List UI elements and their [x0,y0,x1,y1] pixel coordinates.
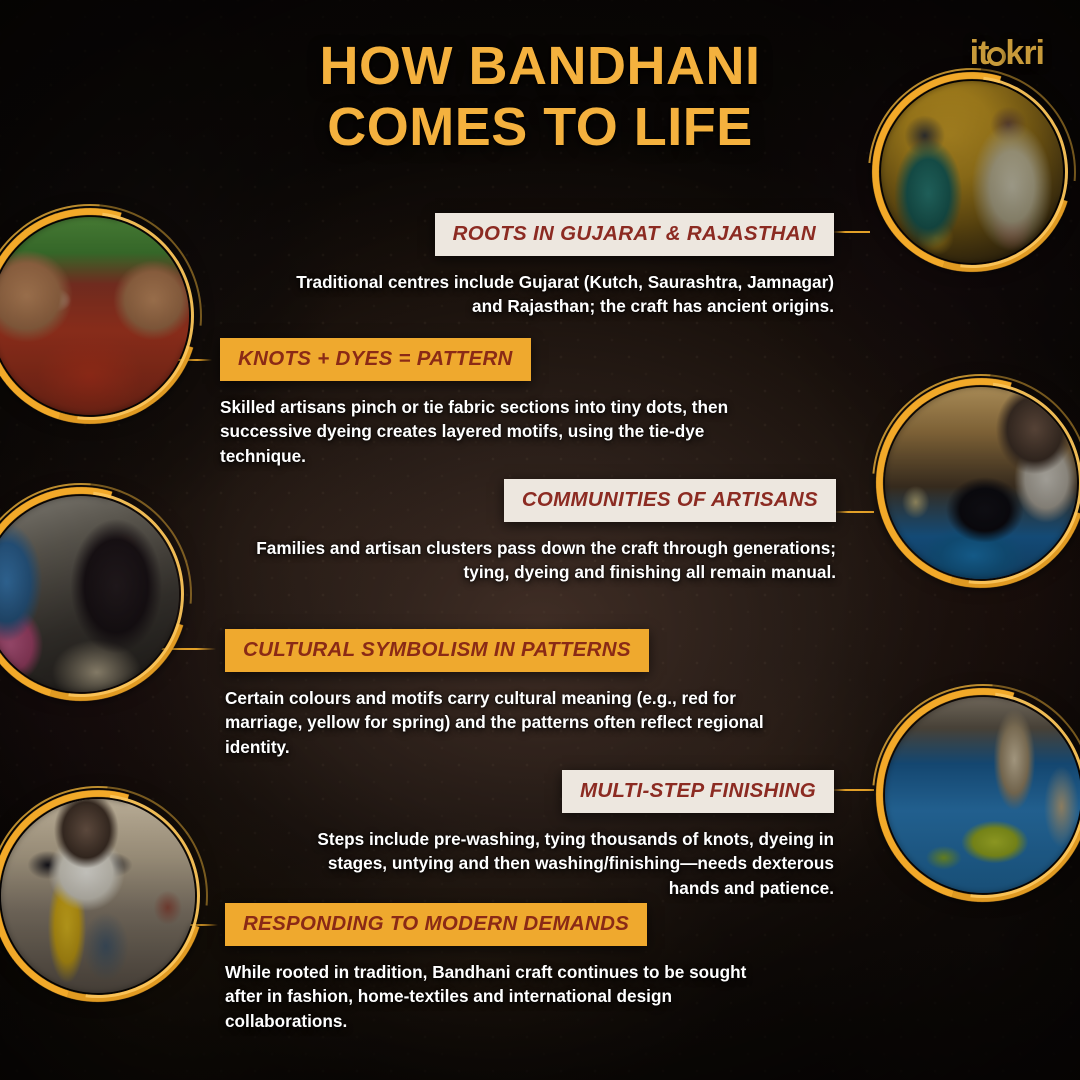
photo-woman-knotting-disc [0,496,179,692]
title-line-1: HOW BANDHANI [0,36,1080,97]
logo-text: it [970,34,989,72]
section-symbolism-body: Certain colours and motifs carry cultura… [225,686,771,759]
connector-roots [832,231,870,233]
section-knots-badge[interactable]: KNOTS + DYES = PATTERN [220,338,531,381]
logo-o-ring-icon [987,47,1006,66]
section-finishing: MULTI-STEP FINISHING Steps include pre-w… [300,770,834,900]
photo-woman-knotting [0,487,188,701]
itokri-logo[interactable]: itkri [970,36,1044,70]
connector-finishing [830,789,874,791]
section-knots: KNOTS + DYES = PATTERN Skilled artisans … [220,338,762,468]
section-finishing-badge[interactable]: MULTI-STEP FINISHING [562,770,834,813]
photo-dyer-blue-vat-disc [885,387,1077,579]
photo-hands-red-fabric [0,208,198,424]
photo-woman-knotting-shade [0,496,179,692]
logo-text-tail: kri [1005,34,1044,72]
section-modern: RESPONDING TO MODERN DEMANDS While roote… [225,903,785,1033]
section-finishing-body: Steps include pre-washing, tying thousan… [300,827,834,900]
photo-yellow-skein-shade [1,799,195,993]
title-line-2: COMES TO LIFE [0,97,1080,158]
section-roots-badge[interactable]: ROOTS IN GUJARAT & RAJASTHAN [435,213,834,256]
section-communities: COMMUNITIES OF ARTISANS Families and art… [242,479,836,585]
section-roots: ROOTS IN GUJARAT & RAJASTHAN Traditional… [280,213,834,319]
page-title: HOW BANDHANI COMES TO LIFE [0,36,1080,158]
photo-dye-pot-yellow [876,688,1080,902]
section-roots-body: Traditional centres include Gujarat (Kut… [280,270,834,319]
connector-communities [834,511,874,513]
section-symbolism: CULTURAL SYMBOLISM IN PATTERNS Certain c… [225,629,771,759]
photo-dyer-shade [885,387,1077,579]
photo-hands-red-shade [0,217,189,415]
section-modern-badge[interactable]: RESPONDING TO MODERN DEMANDS [225,903,647,946]
photo-dyer-blue-vat [876,378,1080,588]
photo-yellow-skein [0,790,204,1002]
photo-dye-pot-shade [885,697,1080,893]
section-communities-badge[interactable]: COMMUNITIES OF ARTISANS [504,479,836,522]
photo-yellow-skein-disc [1,799,195,993]
photo-dye-pot-yellow-disc [885,697,1080,893]
section-modern-body: While rooted in tradition, Bandhani craf… [225,960,785,1033]
section-knots-body: Skilled artisans pinch or tie fabric sec… [220,395,762,468]
infographic-poster: HOW BANDHANI COMES TO LIFE itkri [0,0,1080,1080]
photo-hands-red-fabric-disc [0,217,189,415]
section-communities-body: Families and artisan clusters pass down … [242,536,836,585]
section-symbolism-badge[interactable]: CULTURAL SYMBOLISM IN PATTERNS [225,629,649,672]
